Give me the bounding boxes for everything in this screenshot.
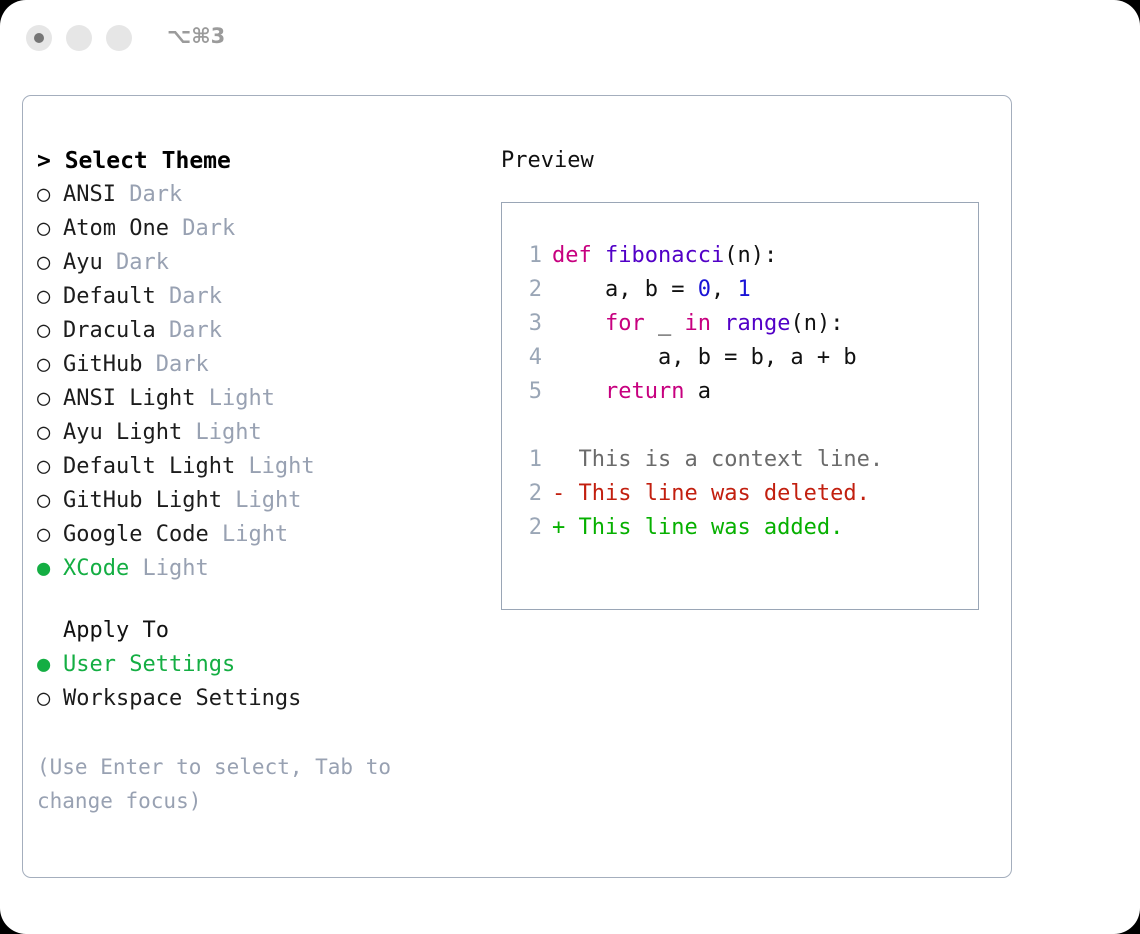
- theme-mode-label: Dark: [116, 250, 169, 275]
- code-token: in: [684, 311, 711, 336]
- theme-list-item[interactable]: ○Atom One Dark: [37, 212, 477, 246]
- line-number: 3: [516, 307, 542, 341]
- code-token: a, b = b, a + b: [552, 345, 857, 370]
- theme-list-column: > Select Theme ○ANSI Dark○Atom One Dark○…: [37, 144, 477, 818]
- code-token: a: [684, 379, 711, 404]
- radio-unselected-icon: ○: [37, 178, 63, 212]
- theme-list-item[interactable]: ○GitHub Light Light: [37, 484, 477, 518]
- code-token: 0: [698, 277, 711, 302]
- theme-picker-panel: > Select Theme ○ANSI Dark○Atom One Dark○…: [22, 95, 1012, 878]
- window-maximize-button[interactable]: [106, 25, 132, 51]
- diff-marker: [552, 447, 579, 472]
- line-number: 1: [516, 239, 542, 273]
- theme-mode-label: Light: [209, 386, 275, 411]
- diff-text: This line was deleted.: [579, 481, 870, 506]
- theme-name: Default Light: [63, 454, 235, 479]
- theme-mode-label: Dark: [129, 182, 182, 207]
- code-token: range: [724, 311, 790, 336]
- code-sample: 1def fibonacci(n):2 a, b = 0, 13 for _ i…: [516, 239, 972, 409]
- apply-to-options[interactable]: ●User Settings○Workspace Settings: [37, 648, 477, 716]
- app-window: ⌥⌘3 > Select Theme ○ANSI Dark○Atom One D…: [0, 0, 1140, 934]
- radio-unselected-icon: ○: [37, 484, 63, 518]
- code-token: _: [645, 311, 685, 336]
- theme-mode-label: Dark: [156, 352, 209, 377]
- radio-unselected-icon: ○: [37, 450, 63, 484]
- theme-mode-label: Light: [222, 522, 288, 547]
- theme-name: Atom One: [63, 216, 169, 241]
- theme-list-item[interactable]: ○Ayu Light Light: [37, 416, 477, 450]
- code-token: a, b =: [552, 277, 698, 302]
- apply-to-option[interactable]: ○Workspace Settings: [37, 682, 477, 716]
- theme-mode-label: Dark: [169, 284, 222, 309]
- code-token: def: [552, 243, 605, 268]
- radio-unselected-icon: ○: [37, 682, 63, 716]
- line-number: 4: [516, 341, 542, 375]
- code-token: 1: [737, 277, 750, 302]
- code-token: for: [605, 311, 645, 336]
- theme-mode-label: Dark: [182, 216, 235, 241]
- theme-mode-label: Light: [142, 556, 208, 581]
- diff-line: 2+ This line was added.: [516, 511, 972, 545]
- window-close-button[interactable]: [26, 25, 52, 51]
- select-theme-header: > Select Theme: [37, 144, 477, 178]
- line-number: 1: [516, 443, 542, 477]
- apply-to-label: Workspace Settings: [63, 686, 301, 711]
- theme-list-item[interactable]: ○GitHub Dark: [37, 348, 477, 382]
- keyboard-hint-text: (Use Enter to select, Tab to change focu…: [37, 750, 437, 818]
- theme-name: GitHub: [63, 352, 142, 377]
- apply-to-section: Apply To ●User Settings○Workspace Settin…: [37, 614, 477, 716]
- code-token: fibonacci: [605, 243, 724, 268]
- theme-list-item[interactable]: ●XCode Light: [37, 552, 477, 586]
- theme-mode-label: Light: [248, 454, 314, 479]
- theme-mode-label: Light: [195, 420, 261, 445]
- diff-line: 1 This is a context line.: [516, 443, 972, 477]
- theme-name: GitHub Light: [63, 488, 222, 513]
- radio-unselected-icon: ○: [37, 348, 63, 382]
- theme-name: Dracula: [63, 318, 156, 343]
- diff-text: This line was added.: [579, 515, 844, 540]
- line-number: 5: [516, 375, 542, 409]
- theme-name: ANSI Light: [63, 386, 195, 411]
- preview-column: Preview 1def fibonacci(n):2 a, b = 0, 13…: [501, 144, 1001, 610]
- code-preview: 1def fibonacci(n):2 a, b = 0, 13 for _ i…: [516, 239, 972, 545]
- radio-selected-icon: ●: [37, 648, 63, 682]
- window-minimize-button[interactable]: [66, 25, 92, 51]
- diff-text: This is a context line.: [579, 447, 884, 472]
- theme-mode-label: Light: [235, 488, 301, 513]
- keyboard-shortcut-label: ⌥⌘3: [167, 24, 225, 48]
- code-token: (n):: [724, 243, 777, 268]
- code-token: ,: [711, 277, 738, 302]
- radio-selected-icon: ●: [37, 552, 63, 586]
- theme-name: Ayu: [63, 250, 103, 275]
- theme-name: XCode: [63, 556, 129, 581]
- theme-list-item[interactable]: ○Ayu Dark: [37, 246, 477, 280]
- code-line: 2 a, b = 0, 1: [516, 273, 972, 307]
- theme-list-item[interactable]: ○Default Light Light: [37, 450, 477, 484]
- code-line: 5 return a: [516, 375, 972, 409]
- preview-header: Preview: [501, 144, 1001, 178]
- line-number: 2: [516, 273, 542, 307]
- radio-unselected-icon: ○: [37, 246, 63, 280]
- diff-marker: -: [552, 481, 579, 506]
- radio-unselected-icon: ○: [37, 416, 63, 450]
- code-line: 4 a, b = b, a + b: [516, 341, 972, 375]
- theme-mode-label: Dark: [169, 318, 222, 343]
- theme-list-item[interactable]: ○Dracula Dark: [37, 314, 477, 348]
- radio-unselected-icon: ○: [37, 314, 63, 348]
- diff-line: 2- This line was deleted.: [516, 477, 972, 511]
- diff-sample: 1 This is a context line.2- This line wa…: [516, 443, 972, 545]
- code-token: [552, 311, 605, 336]
- theme-name: Default: [63, 284, 156, 309]
- radio-unselected-icon: ○: [37, 382, 63, 416]
- code-line: 1def fibonacci(n):: [516, 239, 972, 273]
- code-token: (n):: [790, 311, 843, 336]
- title-bar: ⌥⌘3: [0, 0, 1140, 78]
- code-token: [552, 379, 605, 404]
- theme-list-item[interactable]: ○Google Code Light: [37, 518, 477, 552]
- diff-marker: +: [552, 515, 579, 540]
- apply-to-header: Apply To: [37, 614, 477, 648]
- theme-list[interactable]: ○ANSI Dark○Atom One Dark○Ayu Dark○Defaul…: [37, 178, 477, 586]
- theme-name: Ayu Light: [63, 420, 182, 445]
- theme-list-item[interactable]: ○Default Dark: [37, 280, 477, 314]
- preview-box: 1def fibonacci(n):2 a, b = 0, 13 for _ i…: [501, 202, 979, 610]
- radio-unselected-icon: ○: [37, 518, 63, 552]
- radio-unselected-icon: ○: [37, 212, 63, 246]
- code-token: return: [605, 379, 684, 404]
- code-line: 3 for _ in range(n):: [516, 307, 972, 341]
- theme-name: Google Code: [63, 522, 209, 547]
- line-number: 2: [516, 511, 542, 545]
- code-token: [711, 311, 724, 336]
- window-button-dot-icon: [34, 33, 44, 43]
- radio-unselected-icon: ○: [37, 280, 63, 314]
- theme-list-item[interactable]: ○ANSI Light Light: [37, 382, 477, 416]
- theme-name: ANSI: [63, 182, 116, 207]
- line-number: 2: [516, 477, 542, 511]
- apply-to-label: User Settings: [63, 652, 235, 677]
- apply-to-option[interactable]: ●User Settings: [37, 648, 477, 682]
- theme-list-item[interactable]: ○ANSI Dark: [37, 178, 477, 212]
- code-diff-spacer: [516, 409, 972, 443]
